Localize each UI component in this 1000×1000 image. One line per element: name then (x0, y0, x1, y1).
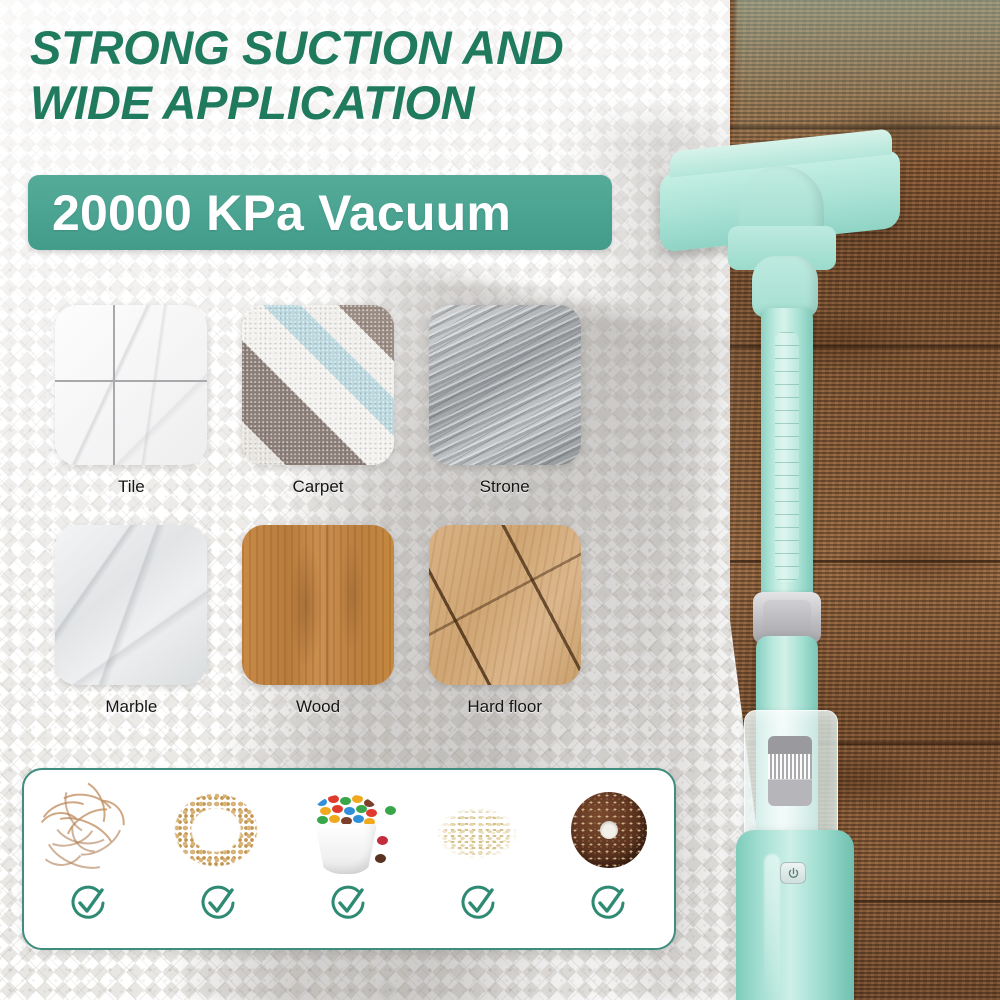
vacuum-upper-tube (761, 308, 813, 608)
debris-item-candy (284, 770, 414, 948)
wood-swatch-image (242, 525, 394, 685)
hard-floor-swatch-image (429, 525, 581, 685)
power-icon (787, 867, 800, 880)
oat-flakes (431, 800, 523, 864)
headline-line-2: WIDE APPLICATION (30, 75, 650, 130)
donut-illustration (553, 784, 665, 876)
crumb-ring-illustration (163, 784, 275, 876)
surface-label: Wood (296, 697, 340, 717)
filter-pleats (768, 754, 812, 779)
surface-item-marble[interactable]: Marble (38, 525, 225, 717)
surface-item-tile[interactable]: Tile (38, 305, 225, 497)
carpet-swatch-image (242, 305, 394, 465)
surface-label: Tile (118, 477, 145, 497)
hair-tangle-illustration (33, 784, 145, 876)
vacuum-filter (768, 736, 812, 806)
power-button[interactable] (780, 862, 806, 884)
surface-item-stone[interactable]: Strone (411, 305, 598, 497)
marble-swatch-image (55, 525, 207, 685)
spilled-candy (375, 854, 386, 863)
surface-item-carpet[interactable]: Carpet (225, 305, 412, 497)
debris-item-crumbs (154, 770, 284, 948)
surface-item-wood[interactable]: Wood (225, 525, 412, 717)
surface-label: Marble (105, 697, 157, 717)
check-circle-icon (198, 882, 240, 924)
chocolate-donut (571, 792, 647, 868)
suction-power-badge: 20000 KPa Vacuum (28, 175, 612, 250)
debris-item-donut (544, 770, 674, 948)
surface-item-hard-floor[interactable]: Hard floor (411, 525, 598, 717)
surface-label: Strone (480, 477, 530, 497)
surface-swatch-grid: Tile Carpet Strone Marble (38, 305, 598, 745)
bowl-cup (315, 824, 377, 874)
donut-hole (600, 821, 618, 839)
tile-swatch-image (55, 305, 207, 465)
page-title: STRONG SUCTION AND WIDE APPLICATION (30, 20, 650, 131)
suction-power-label: 20000 KPa Vacuum (28, 184, 511, 242)
crumb-particles (173, 792, 259, 868)
check-circle-icon (588, 882, 630, 924)
check-circle-icon (68, 882, 110, 924)
wood-grain-texture (242, 525, 394, 685)
surface-row-1: Tile Carpet Strone (38, 305, 598, 497)
tile-vein-texture (55, 305, 207, 465)
hair-strands (33, 784, 145, 876)
stone-grain-texture (429, 305, 581, 465)
marble-vein-texture (55, 525, 207, 685)
surface-label: Carpet (292, 477, 343, 497)
body-highlight (764, 854, 780, 1000)
check-circle-icon (458, 882, 500, 924)
surface-label: Hard floor (467, 697, 542, 717)
debris-item-hair (24, 770, 154, 948)
surface-row-2: Marble Wood Hard floor (38, 525, 598, 717)
debris-item-oats (414, 770, 544, 948)
vacuum-motor-body (736, 830, 854, 1000)
candy-bowl (311, 790, 381, 874)
collar-button[interactable] (763, 600, 811, 634)
carpet-fiber-texture (242, 305, 394, 465)
oat-pile-illustration (423, 784, 535, 876)
stone-swatch-image (429, 305, 581, 465)
headline-line-1: STRONG SUCTION AND (30, 20, 650, 75)
spilled-candy (385, 806, 396, 815)
spilled-candy (377, 836, 388, 845)
candy-bowl-illustration (293, 784, 405, 876)
debris-capability-panel (22, 768, 676, 950)
tube-length-scale (775, 332, 799, 582)
vacuum-product-image (660, 140, 940, 1000)
check-circle-icon (328, 882, 370, 924)
plank-seam-lines (429, 525, 581, 685)
promo-scene: STRONG SUCTION AND WIDE APPLICATION 2000… (0, 0, 1000, 1000)
